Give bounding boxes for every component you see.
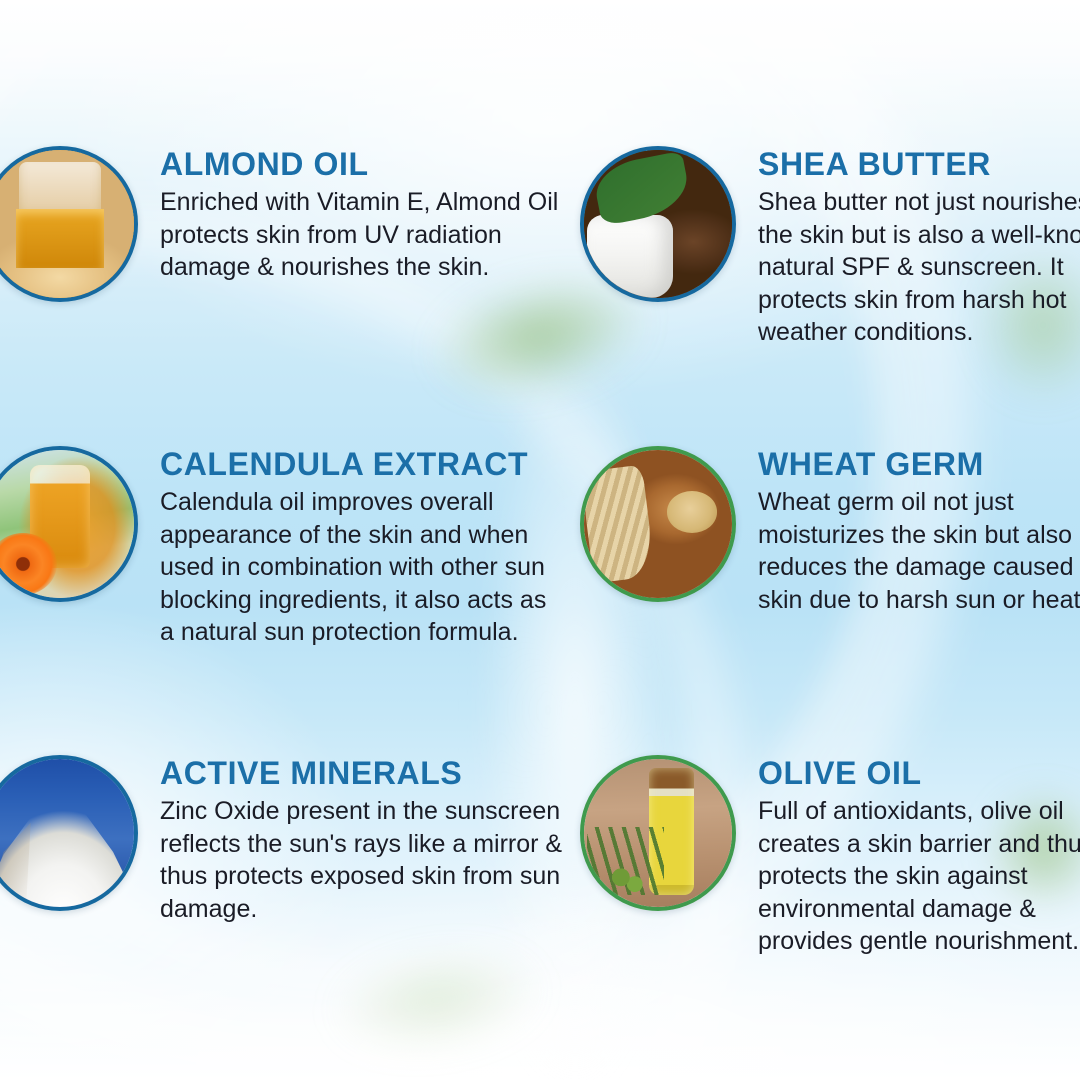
wheat-germ-bowl-photo xyxy=(580,446,736,602)
almond-oil-jar-photo xyxy=(0,146,138,302)
ingredient-copy: WHEAT GERM Wheat germ oil not just moist… xyxy=(736,446,1080,616)
ingredient-card-grid: ALMOND OIL Enriched with Vitamin E, Almo… xyxy=(0,0,1080,1080)
zinc-oxide-powder-photo xyxy=(0,755,138,911)
ingredient-description: Wheat germ oil not just moisturizes the … xyxy=(758,486,1080,616)
ingredient-copy: SHEA BUTTER Shea butter not just nourish… xyxy=(736,146,1080,349)
ingredient-card-calendula-extract: CALENDULA EXTRACT Calendula oil improves… xyxy=(0,446,594,649)
shea-butter-jar-photo xyxy=(580,146,736,302)
ingredient-description: Calendula oil improves overall appearanc… xyxy=(160,486,568,649)
infographic-canvas: ALMOND OIL Enriched with Vitamin E, Almo… xyxy=(0,0,1080,1080)
ingredient-card-almond-oil: ALMOND OIL Enriched with Vitamin E, Almo… xyxy=(0,146,594,302)
ingredient-description: Zinc Oxide present in the sunscreen refl… xyxy=(160,795,568,925)
ingredient-card-active-minerals: ACTIVE MINERALS Zinc Oxide present in th… xyxy=(0,755,594,925)
ingredient-title: OLIVE OIL xyxy=(758,757,1080,789)
ingredient-copy: ACTIVE MINERALS Zinc Oxide present in th… xyxy=(138,755,568,925)
ingredient-description: Shea butter not just nourishes the skin … xyxy=(758,186,1080,349)
olive-oil-bottle-photo xyxy=(580,755,736,911)
ingredient-title: CALENDULA EXTRACT xyxy=(160,448,568,480)
ingredient-title: ACTIVE MINERALS xyxy=(160,757,568,789)
ingredient-description: Enriched with Vitamin E, Almond Oil prot… xyxy=(160,186,568,284)
ingredient-card-shea-butter: SHEA BUTTER Shea butter not just nourish… xyxy=(580,146,1080,349)
ingredient-title: WHEAT GERM xyxy=(758,448,1080,480)
ingredient-title: ALMOND OIL xyxy=(160,148,568,180)
ingredient-card-wheat-germ: WHEAT GERM Wheat germ oil not just moist… xyxy=(580,446,1080,616)
calendula-oil-flower-photo xyxy=(0,446,138,602)
ingredient-description: Full of antioxidants, olive oil creates … xyxy=(758,795,1080,958)
ingredient-copy: OLIVE OIL Full of antioxidants, olive oi… xyxy=(736,755,1080,958)
ingredient-copy: CALENDULA EXTRACT Calendula oil improves… xyxy=(138,446,568,649)
ingredient-card-olive-oil: OLIVE OIL Full of antioxidants, olive oi… xyxy=(580,755,1080,958)
ingredient-title: SHEA BUTTER xyxy=(758,148,1080,180)
ingredient-copy: ALMOND OIL Enriched with Vitamin E, Almo… xyxy=(138,146,568,284)
